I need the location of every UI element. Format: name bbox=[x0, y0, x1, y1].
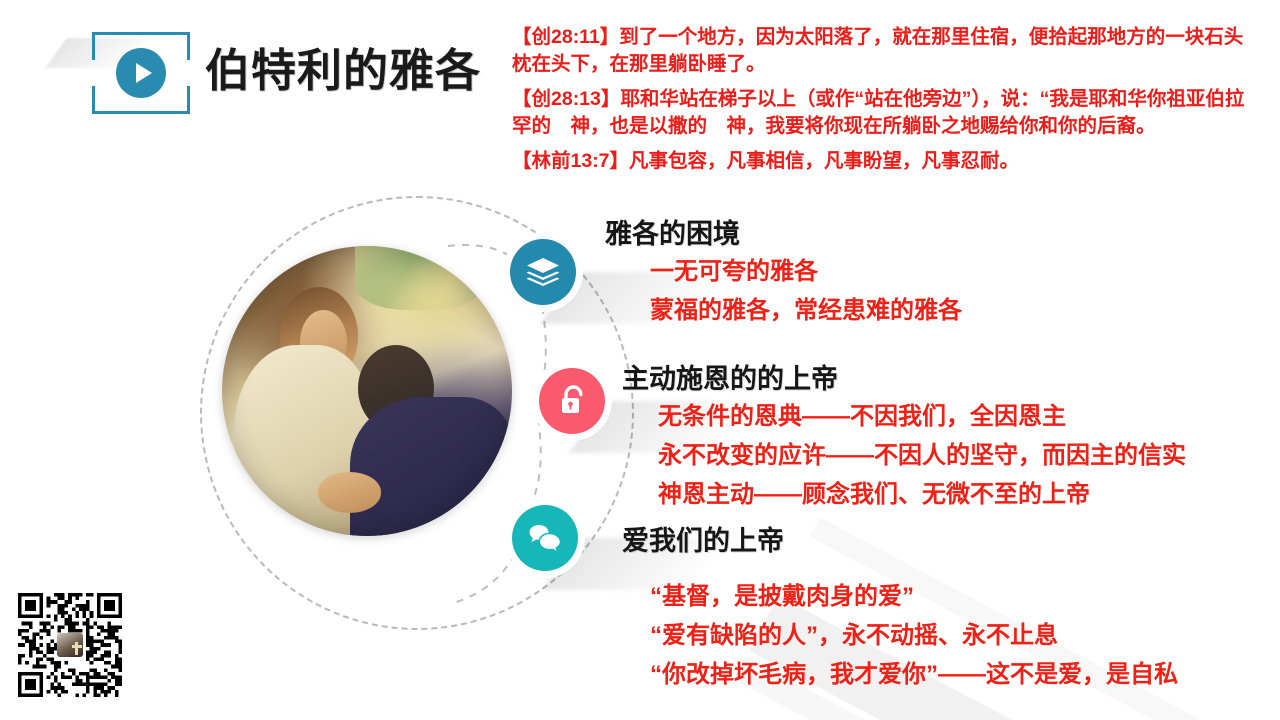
scripture-verse: 【创28:13】耶和华站在梯子以上（或作“站在他旁边”），说：“我是耶和华你祖亚… bbox=[512, 86, 1252, 140]
play-button-icon[interactable] bbox=[116, 48, 166, 98]
section-bullet: 永不改变的应许——不因人的坚守，而因主的信实 bbox=[622, 436, 1186, 475]
layers-icon[interactable] bbox=[510, 239, 576, 305]
section-heading: 爱我们的上帝 bbox=[622, 523, 1178, 559]
scripture-verse: 【林前13:7】凡事包容，凡事相信，凡事盼望，凡事忍耐。 bbox=[512, 148, 1252, 175]
section-god-who-gives-grace: 主动施恩的的上帝 无条件的恩典——不因我们，全因恩主 永不改变的应许——不因人的… bbox=[622, 361, 1186, 514]
section-bullet: “爱有缺陷的人”，永不动摇、永不止息 bbox=[622, 616, 1178, 655]
section-bullet: 蒙福的雅各，常经患难的雅各 bbox=[605, 291, 962, 330]
illustration-photo bbox=[222, 246, 512, 536]
section-bullet: 无条件的恩典——不因我们，全因恩主 bbox=[622, 397, 1186, 436]
page-title: 伯特利的雅各 bbox=[205, 36, 481, 106]
scripture-block: 【创28:11】到了一个地方，因为太阳落了，就在那里住宿，便拾起那地方的一块石头… bbox=[512, 24, 1252, 175]
section-jacobs-plight: 雅各的困境 一无可夸的雅各 蒙福的雅各，常经患难的雅各 bbox=[605, 216, 962, 330]
section-bullet: “基督，是披戴肉身的爱” bbox=[622, 577, 1178, 616]
scripture-verse: 【创28:11】到了一个地方，因为太阳落了，就在那里住宿，便拾起那地方的一块石头… bbox=[512, 24, 1252, 78]
logo-frame bbox=[92, 32, 190, 114]
section-bullet: 神恩主动——顾念我们、无微不至的上帝 bbox=[622, 475, 1186, 514]
church-cross-icon bbox=[57, 633, 83, 657]
chat-bubbles-icon[interactable] bbox=[512, 505, 578, 571]
slide-root: 伯特利的雅各 【创28:11】到了一个地方，因为太阳落了，就在那里住宿，便拾起那… bbox=[0, 0, 1280, 720]
section-bullet: 一无可夸的雅各 bbox=[605, 252, 962, 291]
section-god-who-loves-us: 爱我们的上帝 “基督，是披戴肉身的爱” “爱有缺陷的人”，永不动摇、永不止息 “… bbox=[622, 523, 1178, 694]
section-heading: 雅各的困境 bbox=[605, 216, 962, 252]
lock-open-icon[interactable] bbox=[539, 368, 605, 434]
section-bullet: “你改掉坏毛病，我才爱你”——这不是爱，是自私 bbox=[622, 655, 1178, 694]
section-heading: 主动施恩的的上帝 bbox=[622, 361, 1186, 397]
qr-code[interactable] bbox=[18, 593, 122, 697]
